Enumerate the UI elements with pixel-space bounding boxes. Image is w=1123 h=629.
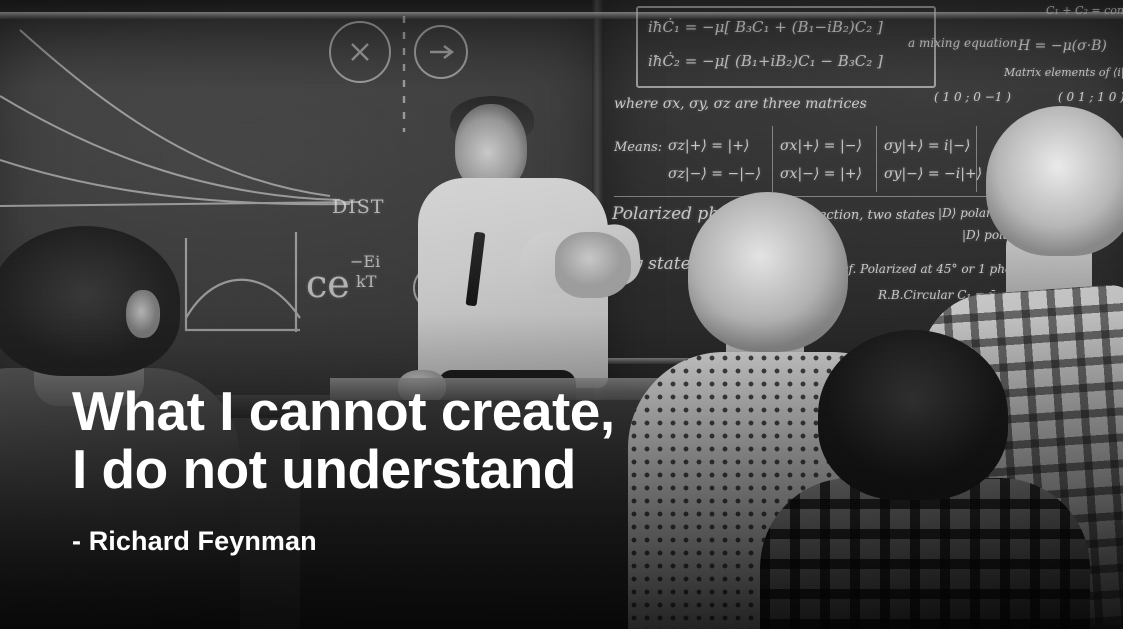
chalk-note-hamiltonian: H = −μ(σ·B): [1018, 38, 1107, 54]
student-foreground-hair: [818, 330, 1008, 500]
chalk-note-matrices: where σx, σy, σz are three matrices: [614, 96, 867, 112]
quote-image: DIST ce −Ei kT iħĊ₁ = −μ[ B₃C₁ + (B₁−iB₂…: [0, 0, 1123, 629]
chalk-equation-1: iħĊ₁ = −μ[ B₃C₁ + (B₁−iB₂)C₂ ]: [648, 18, 883, 36]
student-blonde-hair: [688, 192, 848, 352]
chalk-table-r1c1: σx|−⟩ = |+⟩: [780, 166, 862, 182]
lecturer-pointing-hand: [555, 232, 631, 298]
quote-text: What I cannot create, I do not understan…: [72, 382, 732, 498]
chalk-table-r0c2: σy|+⟩ = i|−⟩: [884, 138, 970, 154]
chalk-equation-2: iħĊ₂ = −μ[ (B₁+iB₂)C₁ − B₃C₂ ]: [648, 52, 883, 70]
chalk-table-rule-1: [772, 126, 773, 192]
student-left-ear: [126, 290, 160, 338]
chalk-table-rule-2: [876, 126, 877, 192]
quote-line-1: What I cannot create,: [72, 382, 732, 440]
student-right-hair: [986, 106, 1123, 256]
chalk-table-r0c1: σx|+⟩ = |−⟩: [780, 138, 862, 154]
chalk-matrix-sigma-z: ( 1 0 ; 0 −1 ): [934, 90, 1011, 104]
chalk-table-r1c0: σz|−⟩ = −|−⟩: [668, 166, 761, 182]
chalk-note-const: C₁ + C₂ = const: [1046, 4, 1123, 17]
quote-line-2: I do not understand: [72, 440, 732, 498]
chalk-table-label: Means:: [614, 140, 662, 155]
chalk-matrix-sigma-x: ( 0 1 ; 1 0 ): [1058, 90, 1123, 104]
chalk-note-matrix-elements: Matrix elements of ⟨i|σ|k⟩: [1004, 66, 1123, 79]
student-foreground-plaid: [760, 478, 1090, 629]
chalk-table-rule-3: [976, 126, 977, 192]
quote-attribution: - Richard Feynman: [72, 524, 317, 558]
chalk-table-r0c0: σz|+⟩ = |+⟩: [668, 138, 749, 154]
chalk-note-mixing: a mixing equation: [908, 36, 1017, 50]
chalk-table-r1c2: σy|−⟩ = −i|+⟩: [884, 166, 982, 182]
